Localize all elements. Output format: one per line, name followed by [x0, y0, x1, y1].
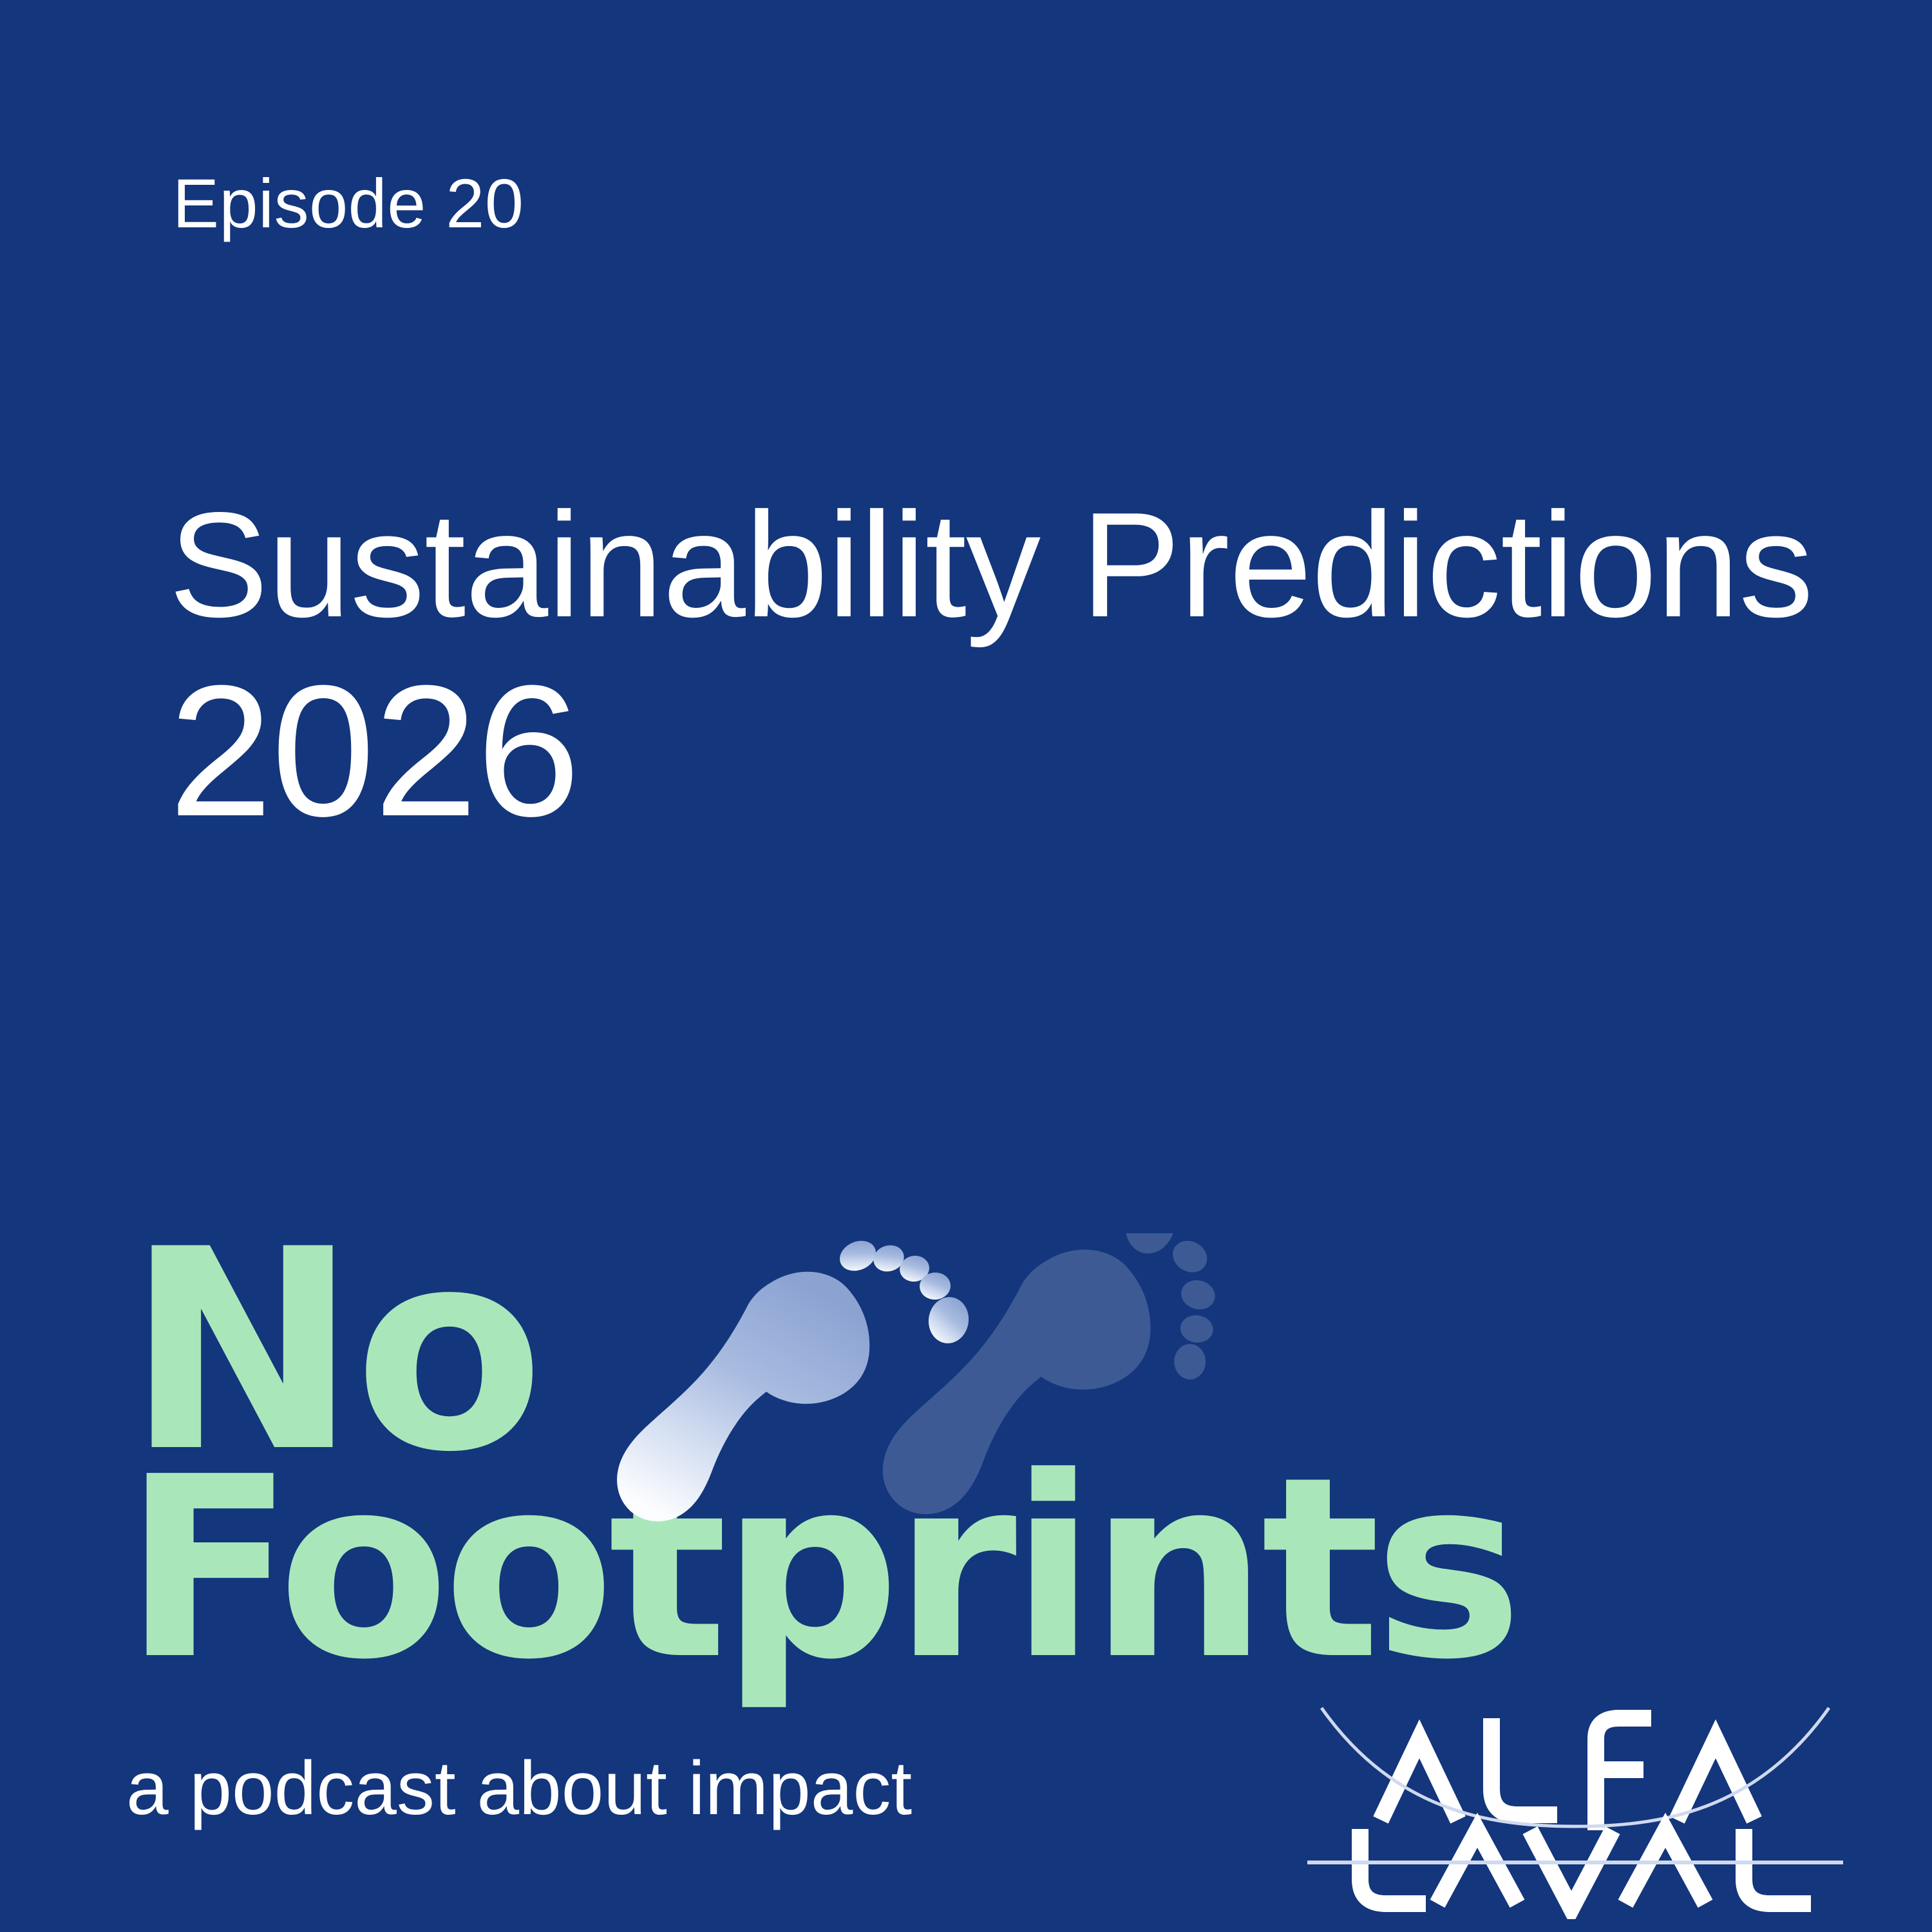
episode-title: Sustainability Predictions [169, 489, 1817, 642]
laval-letter-l1 [1360, 1829, 1426, 1904]
podcast-cover-artwork: Episode 20 Sustainability Predictions 20… [0, 0, 1932, 1932]
laval-letter-a1 [1437, 1830, 1517, 1904]
episode-year: 2026 [169, 658, 1817, 844]
alfa-letter-f [1596, 1718, 1651, 1830]
brand-word-footprints: Footprints [124, 1453, 1350, 1685]
alfa-letter-a2 [1677, 1739, 1754, 1820]
brand-wordmark: No Footprints [126, 1224, 1350, 1685]
laval-letter-v [1530, 1830, 1613, 1909]
title-block: Sustainability Predictions 2026 [169, 489, 1817, 844]
brand-tagline: a podcast about impact [126, 1750, 912, 1826]
episode-label: Episode 20 [173, 169, 524, 238]
laval-letter-l2 [1744, 1829, 1811, 1904]
alfa-laval-logo [1298, 1692, 1852, 1919]
laval-letter-a2 [1625, 1830, 1705, 1904]
alfa-letter-l [1492, 1718, 1557, 1815]
